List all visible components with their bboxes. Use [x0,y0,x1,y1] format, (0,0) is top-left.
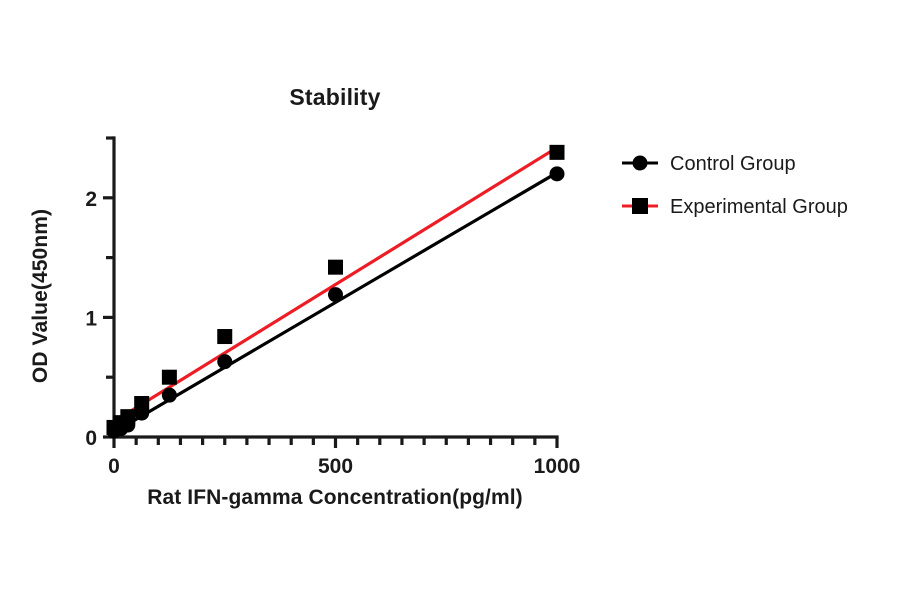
x-tick-label: 0 [108,455,120,478]
legend-item-control-group[interactable]: Control Group [622,153,796,175]
series-fit-line [114,148,557,422]
chart-figure: Stability 01205001000 Rat IFN-gamma Conc… [0,0,900,594]
x-tick-label: 500 [318,455,353,478]
series-experimental-group [114,148,557,422]
series-fit-line [114,173,557,433]
legend-label-experimental-group: Experimental Group [670,196,848,218]
data-point-square [120,409,135,424]
data-point-square [550,145,565,160]
data-point-square [217,329,232,344]
x-axis-title: Rat IFN-gamma Concentration(pg/ml) [147,486,523,509]
data-point-square [328,260,343,275]
data-point-circle [328,287,343,302]
data-point-circle [162,388,177,403]
series-control-group [114,173,557,433]
chart-legend: Control Group Experimental Group [622,153,848,218]
legend-item-experimental-group[interactable]: Experimental Group [622,196,848,218]
data-point-square [134,396,149,411]
legend-label-control-group: Control Group [670,153,796,175]
legend-marker-square-icon [632,198,648,214]
data-point-circle [550,166,565,181]
y-tick-label: 0 [85,427,97,450]
stability-standard-curve-chart: Stability 01205001000 Rat IFN-gamma Conc… [0,0,900,594]
x-tick-label: 1000 [534,455,581,478]
data-point-circle [217,354,232,369]
y-tick-label: 2 [85,188,97,211]
chart-series [107,145,565,439]
chart-title: Stability [289,84,380,110]
data-point-square [162,370,177,385]
y-tick-label: 1 [85,307,97,330]
legend-marker-circle-icon [633,156,648,171]
y-axis-title: OD Value(450nm) [29,209,52,383]
chart-tick-labels: 01205001000 [85,188,580,478]
